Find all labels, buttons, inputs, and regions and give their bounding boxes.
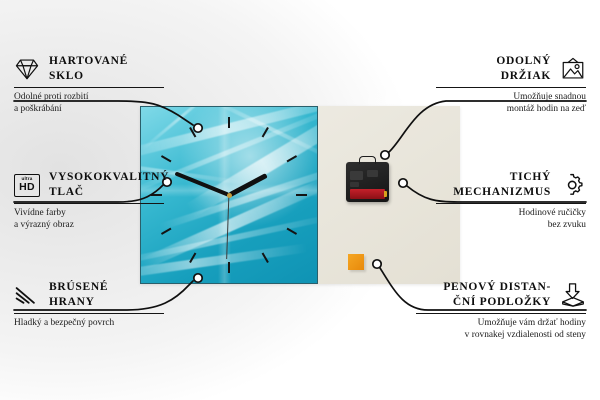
feature-title: TICHÝ MECHANIZMUS — [453, 170, 551, 200]
feature-divider — [436, 203, 586, 204]
ultra-hd-icon-main-label: HD — [19, 182, 35, 193]
feature-divider — [14, 313, 164, 314]
feature-foam-spacers: PENOVÝ DISTAN- ČNÍ PODLOŽKY Umožňuje vám… — [416, 280, 586, 341]
feature-subtitle: Umožňuje snadnou montáž hodin na zeď — [436, 91, 586, 115]
feature-subtitle: Umožňuje vám držať hodiny v rovnakej vzd… — [416, 317, 586, 341]
foam-spacer-icon — [560, 283, 586, 307]
feature-tempered-glass: HARTOVANÉ SKLO Odolné proti rozbití a po… — [14, 54, 164, 115]
feature-divider — [14, 203, 164, 204]
picture-hanger-icon — [560, 57, 586, 81]
feature-title: VYSOKOKVALITNÝ TLAČ — [49, 170, 169, 200]
feature-divider — [14, 87, 164, 88]
ultra-hd-icon: ultra HD — [14, 174, 40, 197]
feature-subtitle: Vivídne farby a výrazný obraz — [14, 207, 164, 231]
feature-high-quality-print: ultra HD VYSOKOKVALITNÝ TLAČ Vivídne far… — [14, 170, 164, 231]
feature-divider — [436, 87, 586, 88]
wire-node-left-bottom — [194, 274, 202, 282]
feature-title: HARTOVANÉ SKLO — [49, 54, 128, 84]
feature-subtitle: Odolné proti rozbití a poškrábání — [14, 91, 164, 115]
feature-silent-mechanism: TICHÝ MECHANIZMUS Hodinové ručičky bez z… — [436, 170, 586, 231]
wire-node-right-bottom — [373, 260, 381, 268]
feature-subtitle: Hodinové ručičky bez zvuku — [436, 207, 586, 231]
feature-durable-hanger: ODOLNÝ DRŽIAK Umožňuje snadnou montáž ho… — [436, 54, 586, 115]
polished-edges-icon — [14, 283, 40, 307]
diamond-icon — [14, 57, 40, 81]
feature-divider — [416, 313, 586, 314]
infographic-canvas: HARTOVANÉ SKLO Odolné proti rozbití a po… — [0, 0, 600, 400]
wire-node-left-top — [194, 124, 202, 132]
wire-node-right-mid — [399, 179, 407, 187]
wire-node-right-top — [381, 151, 389, 159]
gear-icon — [560, 173, 586, 197]
feature-subtitle: Hladký a bezpečný povrch — [14, 317, 164, 329]
feature-title: ODOLNÝ DRŽIAK — [496, 54, 551, 84]
feature-title: PENOVÝ DISTAN- ČNÍ PODLOŽKY — [443, 280, 551, 310]
feature-title: BRÚSENÉ HRANY — [49, 280, 108, 310]
feature-polished-edges: BRÚSENÉ HRANY Hladký a bezpečný povrch — [14, 280, 164, 329]
